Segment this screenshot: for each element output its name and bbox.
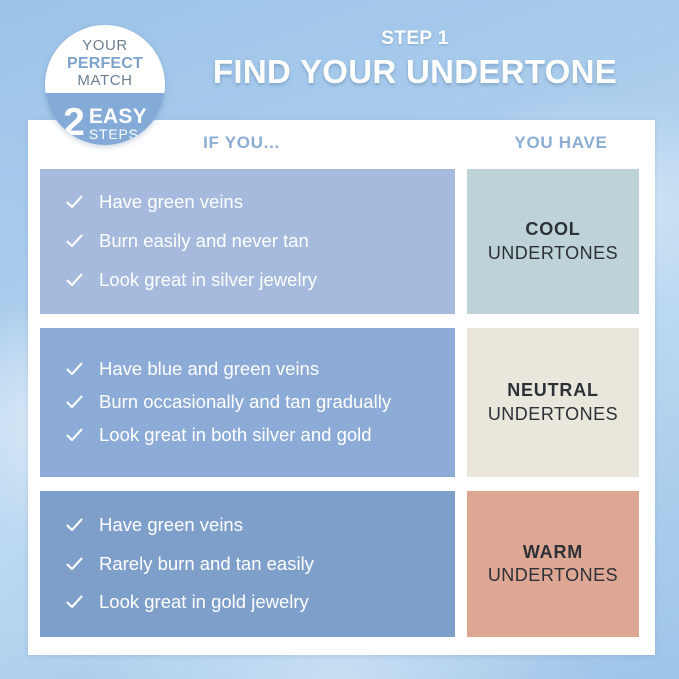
criteria-panel: Have green veins Burn easily and never t… xyxy=(40,169,455,314)
criteria-item: Look great in both silver and gold xyxy=(66,424,439,447)
page-title: FIND YOUR UNDERTONE xyxy=(180,53,650,91)
criteria-item: Burn occasionally and tan gradually xyxy=(66,391,439,414)
swatch-title: COOL xyxy=(525,218,580,241)
criteria-text: Have green veins xyxy=(99,191,243,214)
criteria-item: Look great in silver jewelry xyxy=(66,269,439,292)
criteria-text: Burn easily and never tan xyxy=(99,230,309,253)
criteria-item: Have green veins xyxy=(66,514,439,537)
criteria-text: Have green veins xyxy=(99,514,243,537)
badge-line-match: MATCH xyxy=(45,73,165,90)
badge-step-number: 2 xyxy=(63,105,85,141)
badge-word-easy: EASY xyxy=(89,106,147,127)
check-icon xyxy=(66,394,83,411)
check-icon xyxy=(66,517,83,534)
criteria-text: Have blue and green veins xyxy=(99,358,319,381)
undertone-row: Have blue and green veins Burn occasiona… xyxy=(40,328,639,477)
criteria-text: Burn occasionally and tan gradually xyxy=(99,391,391,414)
undertone-swatch: WARM UNDERTONES xyxy=(467,491,639,637)
check-icon xyxy=(66,272,83,289)
undertone-rows: Have green veins Burn easily and never t… xyxy=(40,169,639,637)
swatch-subtitle: UNDERTONES xyxy=(488,242,618,265)
undertone-swatch: NEUTRAL UNDERTONES xyxy=(467,328,639,477)
undertone-swatch: COOL UNDERTONES xyxy=(467,169,639,314)
check-icon xyxy=(66,361,83,378)
criteria-item: Have blue and green veins xyxy=(66,358,439,381)
check-icon xyxy=(66,556,83,573)
undertone-row: Have green veins Burn easily and never t… xyxy=(40,169,639,314)
check-icon xyxy=(66,427,83,444)
check-icon xyxy=(66,594,83,611)
criteria-text: Look great in silver jewelry xyxy=(99,269,317,292)
badge-top-text: YOUR PERFECT MATCH xyxy=(45,38,165,90)
column-header-you-have: YOU HAVE xyxy=(467,133,655,153)
badge-steps: 2 EASY STEPS xyxy=(45,105,165,141)
criteria-text: Look great in both silver and gold xyxy=(99,424,372,447)
header: STEP 1 FIND YOUR UNDERTONE xyxy=(180,28,650,91)
undertone-row: Have green veins Rarely burn and tan eas… xyxy=(40,491,639,637)
badge-line-your: YOUR xyxy=(45,38,165,55)
swatch-title: NEUTRAL xyxy=(507,379,599,402)
swatch-title: WARM xyxy=(523,541,583,564)
criteria-panel: Have blue and green veins Burn occasiona… xyxy=(40,328,455,477)
step-label: STEP 1 xyxy=(180,28,650,50)
criteria-text: Rarely burn and tan easily xyxy=(99,553,314,576)
check-icon xyxy=(66,233,83,250)
badge-word-steps: STEPS xyxy=(89,127,147,141)
criteria-item: Rarely burn and tan easily xyxy=(66,553,439,576)
criteria-item: Have green veins xyxy=(66,191,439,214)
criteria-text: Look great in gold jewelry xyxy=(99,591,309,614)
swatch-subtitle: UNDERTONES xyxy=(488,403,618,426)
perfect-match-badge: YOUR PERFECT MATCH 2 EASY STEPS xyxy=(45,25,165,145)
badge-line-perfect: PERFECT xyxy=(45,55,165,73)
criteria-item: Burn easily and never tan xyxy=(66,230,439,253)
criteria-item: Look great in gold jewelry xyxy=(66,591,439,614)
badge-step-words: EASY STEPS xyxy=(89,106,147,141)
check-icon xyxy=(66,194,83,211)
criteria-panel: Have green veins Rarely burn and tan eas… xyxy=(40,491,455,637)
swatch-subtitle: UNDERTONES xyxy=(488,564,618,587)
